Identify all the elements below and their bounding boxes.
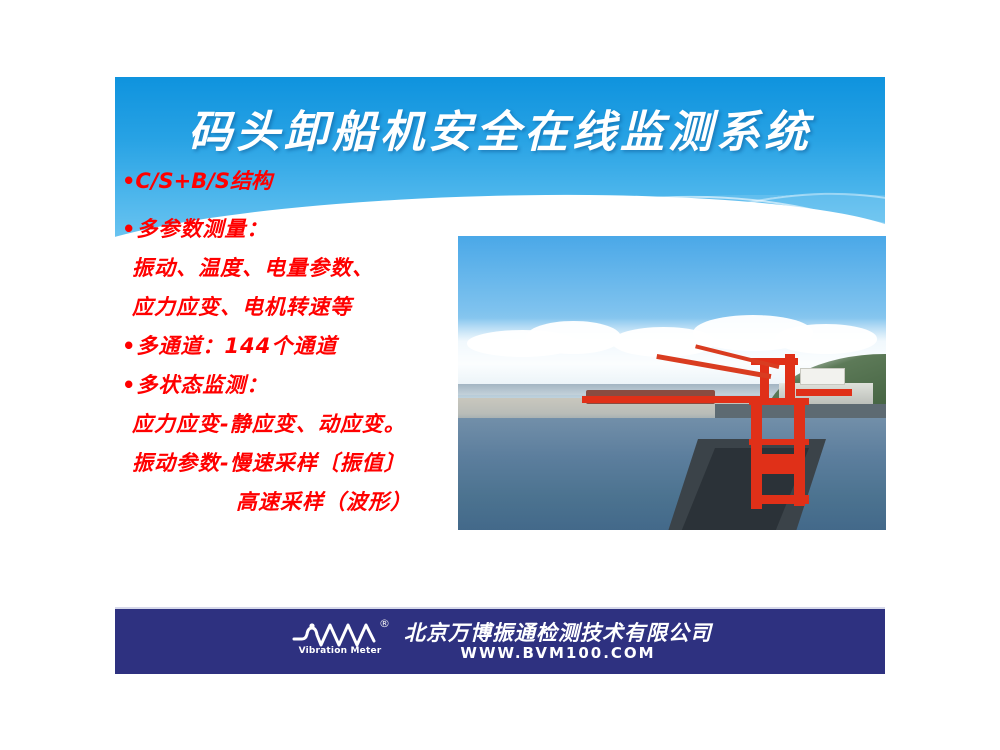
- bullet-list: •C/S+B/S结构 •多参数测量： 振动、温度、电量参数、 应力应变、电机转速…: [122, 166, 467, 522]
- ship-unloader-photo: [458, 236, 886, 530]
- registered-trademark-icon: ®: [379, 617, 390, 630]
- company-name: 北京万博振通检测技术有限公司: [404, 622, 712, 644]
- company-website: WWW.BVM100.COM: [460, 646, 655, 662]
- list-item: •C/S+B/S结构: [122, 166, 467, 196]
- list-item: •多通道：144个通道: [122, 327, 467, 366]
- list-item: •多参数测量：: [122, 210, 467, 249]
- slide-canvas: 码头卸船机安全在线监测系统 •C/S+B/S结构 •多参数测量： 振动、温度、电…: [0, 0, 1000, 750]
- crane-boom: [582, 396, 762, 403]
- footer-bar: ® Vibration Meter 北京万博振通检测技术有限公司 WWW.BVM…: [115, 607, 885, 674]
- list-item: 振动、温度、电量参数、: [122, 249, 467, 288]
- waveform-icon: [292, 619, 388, 649]
- crane-machinery-house: [758, 454, 797, 475]
- crane-tower: [760, 362, 769, 400]
- vibration-meter-logo: ® Vibration Meter: [288, 619, 392, 665]
- page-title: 码头卸船机安全在线监测系统: [115, 96, 885, 160]
- list-item: 振动参数-慢速采样〔振值〕: [122, 444, 467, 483]
- logo-subtitle: Vibration Meter: [299, 646, 382, 656]
- crane-cross-beam-lower: [749, 439, 809, 445]
- footer-company-block: 北京万博振通检测技术有限公司 WWW.BVM100.COM: [404, 622, 712, 662]
- photo-cloud: [526, 321, 620, 353]
- list-item: 高速采样（波形）: [122, 483, 467, 522]
- photo-cloud: [775, 324, 878, 353]
- photo-sea: [458, 418, 886, 530]
- list-item: 应力应变、电机转速等: [122, 288, 467, 327]
- crane-name-sign: [800, 368, 845, 385]
- list-item: 应力应变-静应变、动应变。: [122, 405, 467, 444]
- list-item: •多状态监测：: [122, 366, 467, 405]
- crane-base-beam: [753, 495, 809, 504]
- crane-outer-beam: [796, 389, 852, 396]
